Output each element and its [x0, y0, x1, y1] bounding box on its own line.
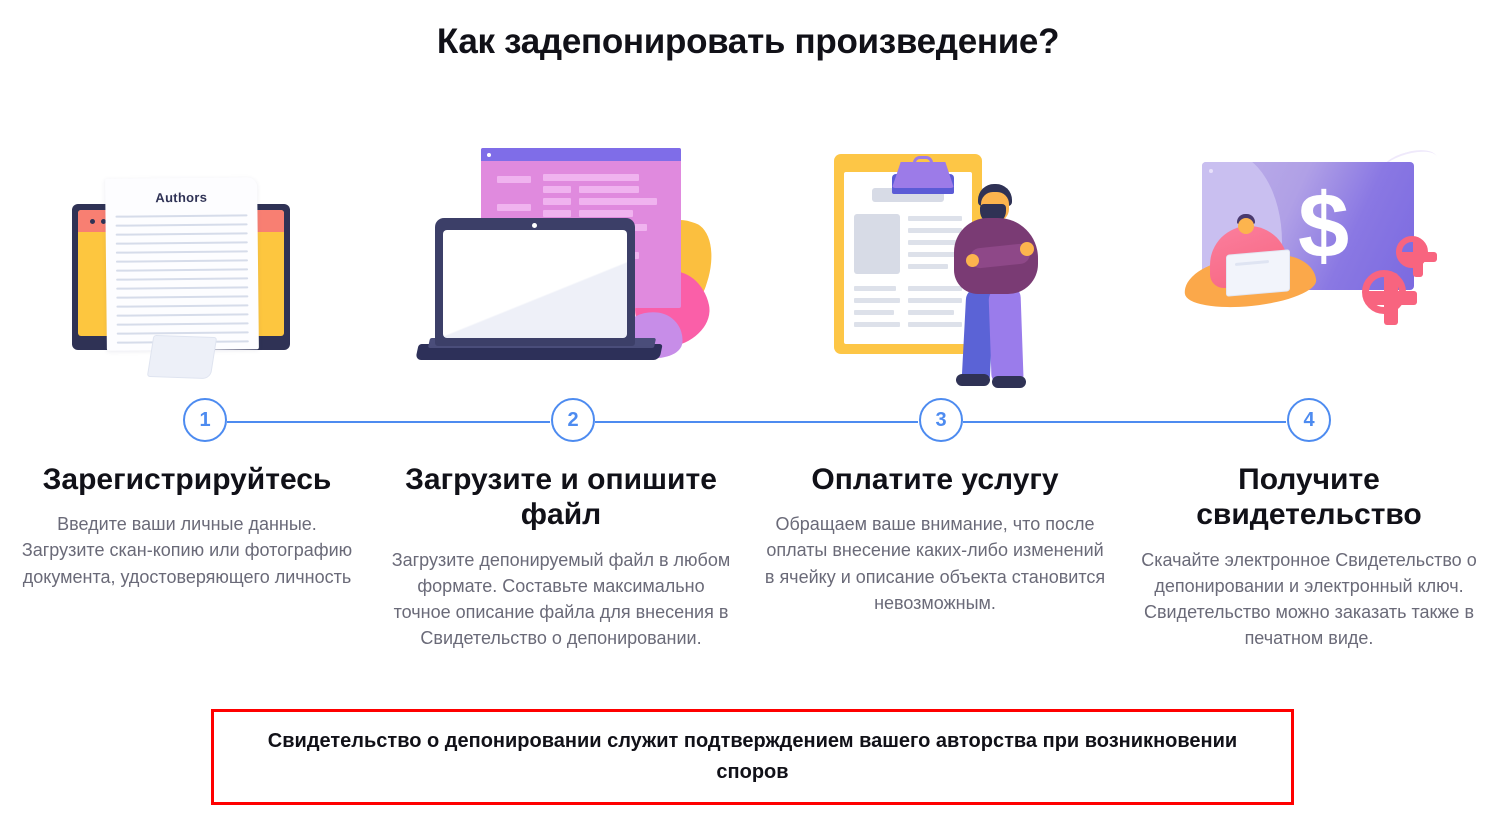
step-column-1: Authors [0, 140, 374, 390]
content-placeholder-line [497, 176, 531, 183]
step-connector-2-3 [595, 421, 918, 423]
step-text-1: Зарегистрируйтесь Введите ваши личные да… [0, 462, 374, 651]
content-placeholder-line [854, 298, 900, 303]
laptop-screen [443, 230, 627, 338]
page-root: Как задепонировать произведение? Au [0, 0, 1496, 828]
step-title-4: Получите свидетельство [1136, 462, 1482, 533]
content-placeholder-line [579, 210, 633, 217]
content-placeholder-line [854, 322, 900, 327]
content-placeholder-line [579, 186, 639, 193]
authors-document-lines [115, 214, 248, 343]
webcam-icon [532, 223, 537, 228]
window-dot-icon [90, 219, 95, 224]
content-placeholder-line [579, 198, 657, 205]
content-placeholder-line [543, 198, 571, 205]
step-description-2: Загрузите депонируемый файл в любом форм… [388, 547, 734, 651]
step-2-illustration-area [374, 140, 748, 390]
page-title: Как задепонировать произведение? [0, 22, 1496, 62]
step-marker-3[interactable]: 3 [919, 398, 963, 442]
step-text-2: Загрузите и опишите файл Загрузите депон… [374, 462, 748, 651]
step-text-3: Оплатите услугу Обращаем ваше внимание, … [748, 462, 1122, 651]
highlight-banner: Свидетельство о депонировании служит под… [211, 709, 1294, 805]
step-text-4: Получите свидетельство Скачайте электрон… [1122, 462, 1496, 651]
browser-titlebar [481, 148, 681, 161]
window-dot-icon [1209, 169, 1213, 173]
highlight-banner-text: Свидетельство о депонировании служит под… [238, 726, 1268, 788]
person-shoe-right [992, 376, 1026, 388]
person-leg-right [988, 285, 1023, 384]
person-shoe-left [956, 374, 990, 386]
gear-icon [1396, 236, 1428, 268]
step-title-1: Зарегистрируйтесь [14, 462, 360, 497]
content-placeholder-line [543, 210, 571, 217]
step-texts-row: Зарегистрируйтесь Введите ваши личные да… [0, 462, 1496, 651]
content-placeholder-line [854, 310, 894, 315]
authors-document-title: Authors [105, 189, 257, 206]
step-description-1: Введите ваши личные данные. Загрузите ск… [14, 511, 360, 589]
step-3-illustration-area [748, 140, 1122, 390]
laptop-small [1226, 249, 1290, 297]
authors-document: Authors [105, 177, 259, 351]
content-placeholder-line [543, 186, 571, 193]
content-placeholder-line [908, 264, 948, 269]
step-description-3: Обращаем ваше внимание, что после оплаты… [762, 511, 1108, 615]
laptop-lid [435, 218, 635, 346]
step-marker-4[interactable]: 4 [1287, 398, 1331, 442]
clipboard-icon [820, 140, 1050, 390]
dollar-icon: $ [1298, 180, 1349, 272]
step-column-4: $ [1122, 140, 1496, 390]
step-connector-1-2 [227, 421, 550, 423]
step-1-illustration-area: Authors [0, 140, 374, 390]
monitor-stand-paper [147, 335, 217, 379]
person-hand-right [1020, 242, 1034, 256]
laptop-icon [421, 140, 701, 390]
window-dot-icon [487, 153, 491, 157]
clipboard-clip-handle [913, 156, 933, 170]
content-placeholder-line [497, 204, 531, 211]
content-placeholder-line [543, 174, 639, 181]
step-title-2: Загрузите и опишите файл [388, 462, 734, 533]
content-placeholder-line [1235, 260, 1269, 266]
monitor-icon: Authors [62, 140, 312, 390]
step-progress-line: 1 2 3 4 [0, 398, 1496, 446]
step-marker-2[interactable]: 2 [551, 398, 595, 442]
payment-card-icon: $ [1184, 140, 1434, 390]
person-head [1238, 218, 1254, 234]
step-description-4: Скачайте электронное Свидетельство о деп… [1136, 547, 1482, 651]
gear-icon [1362, 270, 1406, 314]
step-column-2 [374, 140, 748, 390]
illustrations-row: Authors [0, 140, 1496, 390]
step-4-illustration-area: $ [1122, 140, 1496, 390]
step-connector-3-4 [963, 421, 1286, 423]
step-column-3 [748, 140, 1122, 390]
content-placeholder-block [854, 214, 900, 274]
person-figure [948, 184, 1044, 384]
step-title-3: Оплатите услугу [762, 462, 1108, 497]
person-hand-left [966, 254, 979, 267]
content-placeholder-line [854, 286, 896, 291]
step-marker-1[interactable]: 1 [183, 398, 227, 442]
